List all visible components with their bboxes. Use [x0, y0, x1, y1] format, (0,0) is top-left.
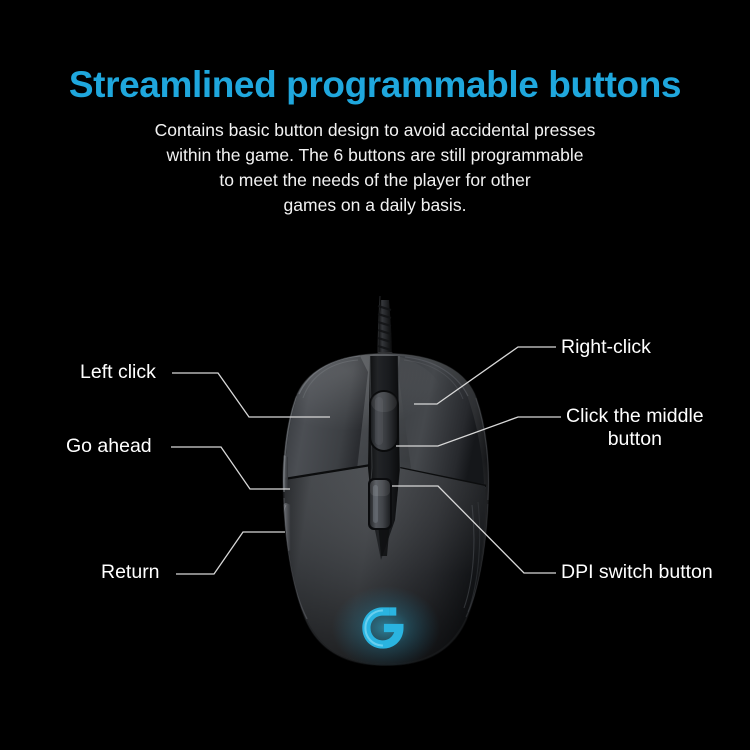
callout-label-right-click: Right-click: [561, 336, 651, 359]
leader-return: [176, 532, 285, 574]
callout-label-dpi-switch: DPI switch button: [561, 561, 713, 584]
mouse-body: [264, 345, 508, 690]
callout-label-return: Return: [101, 561, 160, 584]
callout-label-middle-button-line1: Click the middle: [566, 405, 704, 427]
dpi-switch-button[interactable]: [368, 478, 392, 530]
callout-label-left-click: Left click: [80, 361, 156, 384]
callout-label-middle-button: Click the middle button: [566, 405, 704, 452]
logitech-g-logo: [332, 586, 440, 670]
leader-go-ahead: [171, 447, 290, 489]
callout-label-middle-button-line2: button: [566, 428, 704, 451]
callout-label-go-ahead: Go ahead: [66, 435, 152, 458]
scroll-wheel[interactable]: [369, 390, 399, 452]
product-infographic: Streamlined programmable buttons Contain…: [0, 0, 750, 750]
